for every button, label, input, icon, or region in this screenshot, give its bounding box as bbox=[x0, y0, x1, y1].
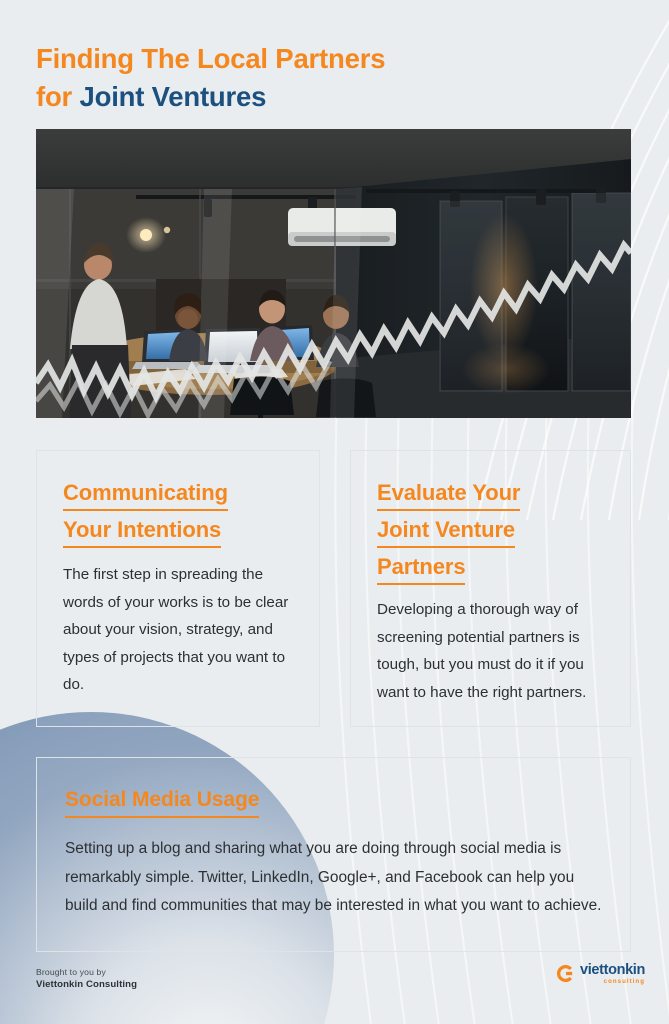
card-social-media-usage: Social Media Usage Setting up a blog and… bbox=[36, 757, 631, 952]
title-line-2: for Joint Ventures bbox=[36, 78, 596, 116]
card-communicating-your-intentions: Communicating Your Intentions The first … bbox=[36, 450, 320, 727]
card-3-body: Setting up a blog and sharing what you a… bbox=[65, 835, 604, 921]
logo-name: viettonkin bbox=[580, 963, 645, 978]
title-line-2-navy: Joint Ventures bbox=[80, 81, 267, 112]
card-3-heading: Social Media Usage bbox=[65, 784, 604, 821]
page-title: Finding The Local Partners for Joint Ven… bbox=[36, 40, 596, 116]
hero-photo-illustration bbox=[36, 129, 631, 418]
card-2-heading-line-2: Joint Venture bbox=[377, 514, 515, 548]
footer-attribution: Brought to you by Viettonkin Consulting bbox=[36, 966, 137, 991]
card-2-heading-line-1: Evaluate Your bbox=[377, 477, 520, 511]
c-arc-icon bbox=[556, 964, 575, 983]
card-1-heading: Communicating Your Intentions bbox=[63, 477, 295, 551]
title-line-2-orange: for bbox=[36, 81, 80, 112]
logo-wordmark: viettonkin consulting bbox=[580, 963, 645, 985]
card-3-heading-line-1: Social Media Usage bbox=[65, 784, 259, 818]
card-evaluate-your-joint-venture-partners: Evaluate Your Joint Venture Partners Dev… bbox=[350, 450, 631, 727]
card-1-heading-line-2: Your Intentions bbox=[63, 514, 221, 548]
hero-photo bbox=[36, 129, 631, 418]
card-1-heading-line-1: Communicating bbox=[63, 477, 228, 511]
footer-brought-by: Brought to you by bbox=[36, 966, 137, 978]
title-line-1: Finding The Local Partners bbox=[36, 40, 596, 78]
viettonkin-logo: viettonkin consulting bbox=[556, 963, 645, 985]
card-1-body: The first step in spreading the words of… bbox=[63, 561, 295, 699]
card-2-heading-line-3: Partners bbox=[377, 551, 465, 585]
footer-company-name: Viettonkin Consulting bbox=[36, 978, 137, 991]
card-2-heading: Evaluate Your Joint Venture Partners bbox=[377, 477, 606, 588]
card-2-body: Developing a thorough way of screening p… bbox=[377, 596, 606, 706]
logo-tagline: consulting bbox=[580, 979, 645, 985]
infographic-page: Finding The Local Partners for Joint Ven… bbox=[0, 0, 669, 1024]
